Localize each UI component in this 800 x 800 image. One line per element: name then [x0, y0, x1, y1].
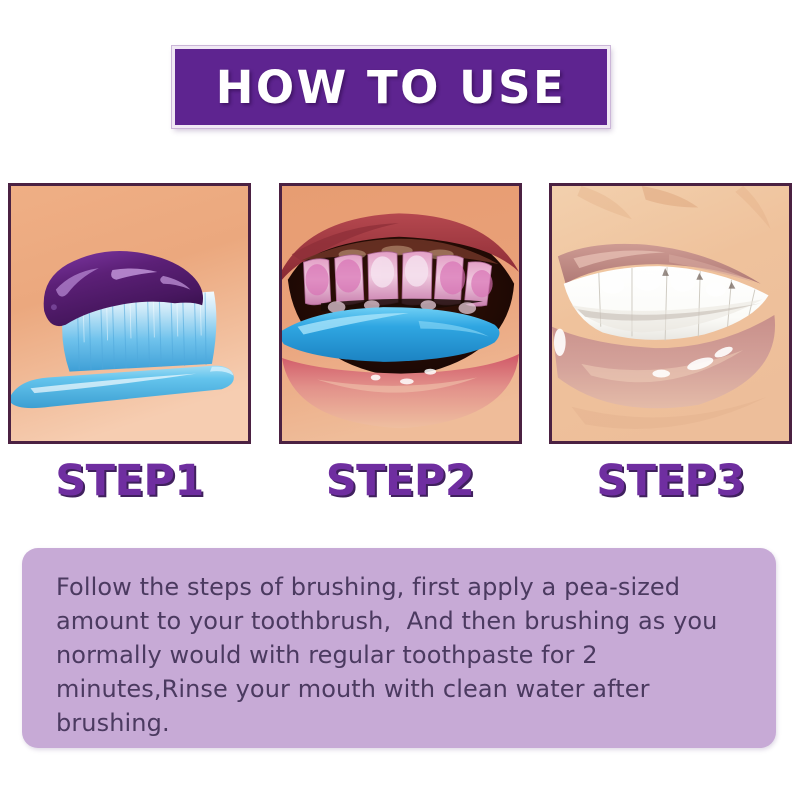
step-label-row: STEP1 STEP2 STEP3 — [8, 452, 792, 510]
step-1-image-panel — [8, 183, 251, 444]
step-3-image-panel — [549, 183, 792, 444]
how-to-use-infographic: HOW TO USE — [0, 0, 800, 800]
header-banner: HOW TO USE — [172, 46, 610, 128]
step-image-row — [8, 183, 792, 444]
toothbrush-with-purple-toothpaste-icon — [11, 186, 248, 441]
page-title: HOW TO USE — [216, 65, 567, 110]
step-3-label: STEP3 — [549, 452, 792, 510]
bright-white-smile-icon — [552, 186, 789, 441]
instructions-panel: Follow the steps of brushing, first appl… — [22, 548, 776, 748]
step-2-image-panel — [279, 183, 522, 444]
stained-teeth-being-brushed-icon — [282, 186, 519, 441]
step-2-label: STEP2 — [279, 452, 522, 510]
instructions-text: Follow the steps of brushing, first appl… — [56, 570, 742, 740]
step-1-label: STEP1 — [8, 452, 251, 510]
